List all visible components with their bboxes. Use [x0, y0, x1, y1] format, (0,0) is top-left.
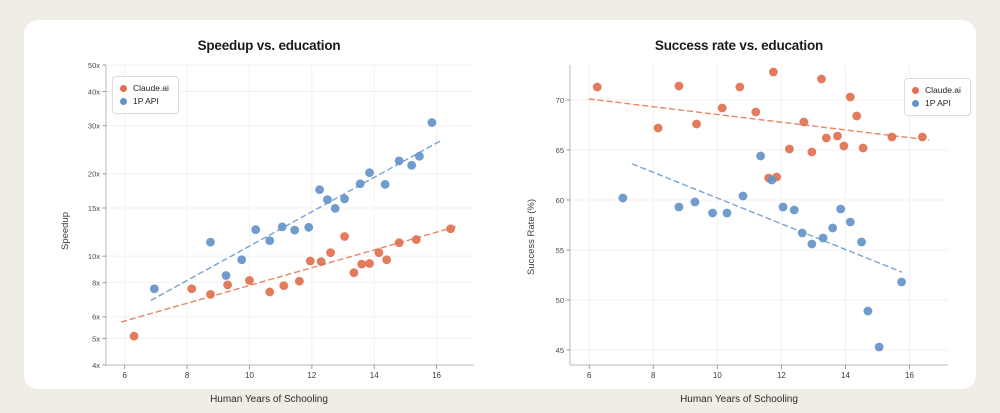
- speedup-y-axis-label: Speedup: [60, 212, 71, 250]
- speedup-chart-title: Speedup vs. education: [34, 38, 504, 53]
- svg-text:5x: 5x: [92, 334, 100, 343]
- svg-text:30x: 30x: [88, 121, 100, 130]
- svg-text:16: 16: [905, 371, 914, 380]
- legend-label-claude: Claude.ai: [925, 84, 961, 97]
- svg-text:50: 50: [556, 296, 564, 305]
- chart-card: Speedup vs. education 4x5x6x8x10x15x20x3…: [24, 20, 976, 389]
- legend-dot-api-icon: [120, 98, 127, 105]
- svg-text:14: 14: [841, 371, 850, 380]
- success-chart-title: Success rate vs. education: [504, 38, 974, 53]
- legend-dot-claude-icon: [912, 87, 919, 94]
- svg-text:8x: 8x: [92, 278, 100, 287]
- svg-text:4x: 4x: [92, 361, 100, 370]
- svg-text:6x: 6x: [92, 313, 100, 322]
- legend-label-claude: Claude.ai: [133, 82, 169, 95]
- svg-text:16: 16: [432, 371, 441, 380]
- legend-label-api: 1P API: [133, 95, 159, 108]
- svg-text:50x: 50x: [88, 61, 100, 70]
- svg-text:60: 60: [556, 196, 564, 205]
- svg-text:10: 10: [245, 371, 254, 380]
- svg-text:14: 14: [370, 371, 379, 380]
- svg-text:8: 8: [185, 371, 190, 380]
- success-y-axis-label: Success Rate (%): [526, 199, 537, 275]
- success-plot-area: 4550556065706810121416: [570, 65, 948, 365]
- svg-text:55: 55: [556, 246, 564, 255]
- speedup-chart-panel: Speedup vs. education 4x5x6x8x10x15x20x3…: [34, 20, 504, 389]
- svg-text:12: 12: [777, 371, 786, 380]
- legend-entry-claude[interactable]: Claude.ai: [912, 84, 961, 97]
- svg-text:6: 6: [122, 371, 127, 380]
- legend-entry-api[interactable]: 1P API: [912, 97, 961, 110]
- svg-text:8: 8: [651, 371, 656, 380]
- svg-text:10x: 10x: [88, 252, 100, 261]
- speedup-x-axis-label: Human Years of Schooling: [34, 394, 504, 405]
- svg-text:12: 12: [307, 371, 316, 380]
- legend-dot-claude-icon: [120, 85, 127, 92]
- svg-text:70: 70: [556, 96, 564, 105]
- legend-label-api: 1P API: [925, 97, 951, 110]
- success-chart-panel: Success rate vs. education 4550556065706…: [504, 20, 974, 389]
- svg-text:40x: 40x: [88, 87, 100, 96]
- svg-text:45: 45: [556, 346, 564, 355]
- legend-entry-claude[interactable]: Claude.ai: [120, 82, 169, 95]
- svg-text:10: 10: [713, 371, 722, 380]
- svg-text:15x: 15x: [88, 204, 100, 213]
- svg-text:20x: 20x: [88, 170, 100, 179]
- svg-text:65: 65: [556, 146, 564, 155]
- legend-dot-api-icon: [912, 100, 919, 107]
- legend-entry-api[interactable]: 1P API: [120, 95, 169, 108]
- svg-text:6: 6: [587, 371, 592, 380]
- speedup-legend: Claude.ai 1P API: [112, 76, 179, 114]
- success-x-axis-label: Human Years of Schooling: [504, 394, 974, 405]
- success-legend: Claude.ai 1P API: [904, 78, 971, 116]
